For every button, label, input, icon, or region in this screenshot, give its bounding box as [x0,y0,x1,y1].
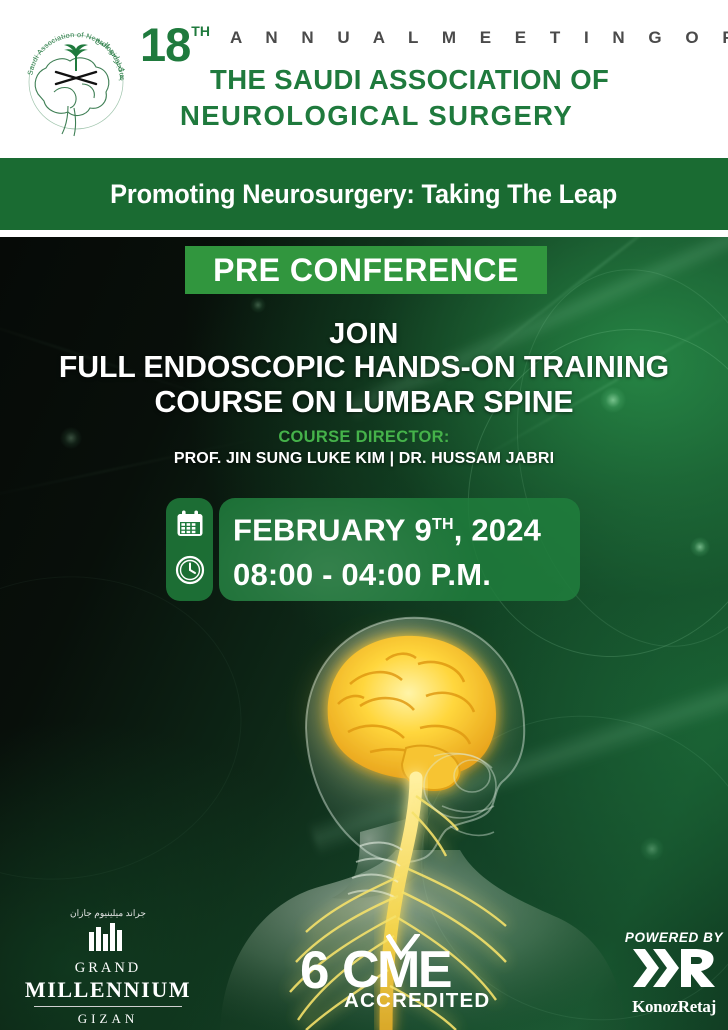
poster-header: Saudi Association of Neurological Surger… [0,0,728,156]
glow-node-2 [690,537,710,557]
hotel-city: GIZAN [18,1011,198,1027]
cme-accreditation-badge: 6 CME ACCREDITED [300,942,460,1014]
event-date-year: , 2024 [454,512,541,547]
powered-by-logo: POWERED BY KonozRetaj [620,930,728,1017]
event-time: 08:00 - 04:00 P.M. [233,552,580,597]
powered-by-label: POWERED BY [620,930,728,945]
edition-suffix: TH [191,24,210,38]
join-label: JOIN [0,318,728,350]
event-date-day-suffix: TH [432,516,454,533]
organization-line-1: THE SAUDI ASSOCIATION OF [210,64,610,96]
slogan-banner: Promoting Neurosurgery: Taking The Leap [0,158,728,230]
pre-conference-badge: PRE CONFERENCE [185,246,547,294]
glow-node-5 [640,837,664,861]
clock-icon [175,555,205,590]
association-logo: Saudi Association of Neurological Surger… [16,22,136,140]
calendar-icon [175,509,205,544]
event-date-day: 9 [415,512,432,547]
slogan-text: Promoting Neurosurgery: Taking The Leap [111,179,618,210]
headline-block: JOIN FULL ENDOSCOPIC HANDS-ON TRAINING C… [0,318,728,469]
hotel-name-line-1: GRAND [18,960,198,977]
grand-millennium-building-icon [81,938,135,955]
course-director-names: PROF. JIN SUNG LUKE KIM | DR. HUSSAM JAB… [0,449,728,469]
glow-node-4 [250,297,266,313]
course-title-line-1: FULL ENDOSCOPIC HANDS-ON TRAINING [4,350,725,385]
konoz-retaj-chevron-r-icon [631,978,717,995]
annual-meeting-label: A N N U A L M E E T I N G O F [230,28,728,48]
course-director-label: COURSE DIRECTOR: [0,427,728,447]
checkmark-icon [386,934,420,960]
edition-number: 18 [140,22,190,68]
edition-line: 18 TH A N N U A L M E E T I N G O F [140,22,610,70]
hotel-logo: جراند ميلينيوم جازان GRAND MILLENNIUM GI… [18,908,198,1027]
hotel-arabic-name: جراند ميلينيوم جازان [18,908,198,919]
event-date-month: FEBRUARY [233,512,406,547]
event-date: FEBRUARY 9TH, 2024 [233,502,580,552]
konoz-retaj-brand: KonozRetaj [620,997,728,1017]
schedule-text-panel: FEBRUARY 9TH, 2024 08:00 - 04:00 P.M. [219,498,580,601]
course-title-line-2: COURSE ON LUMBAR SPINE [4,385,725,420]
organization-line-2: NEUROLOGICAL SURGERY [180,100,610,132]
schedule-icon-column [166,498,213,601]
header-title-block: 18 TH A N N U A L M E E T I N G O F THE … [140,22,610,142]
cme-accredited-label: ACCREDITED [344,990,490,1011]
cme-credit-count: 6 [300,944,327,997]
hotel-name-line-2: MILLENNIUM [18,977,198,1002]
hotel-divider [34,1006,182,1007]
conference-poster: Saudi Association of Neurological Surger… [0,0,728,1030]
pre-conference-label: PRE CONFERENCE [213,252,519,289]
